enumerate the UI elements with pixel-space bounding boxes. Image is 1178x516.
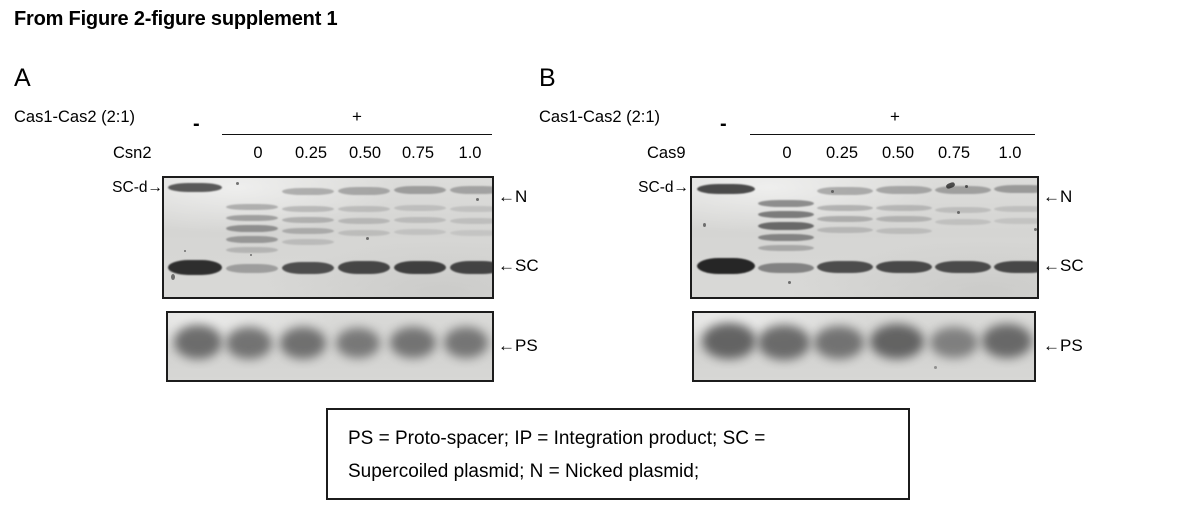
panel-a-plus-sign: + bbox=[352, 108, 362, 125]
panel-b-lane-3 bbox=[817, 178, 873, 297]
panel-b-complex-label: Cas1-Cas2 (2:1) bbox=[539, 108, 660, 127]
panel-a-lane-2 bbox=[226, 178, 278, 297]
panel-a-lane-value-3: 0.75 bbox=[392, 144, 444, 163]
panel-a-ps-gel-image bbox=[166, 311, 494, 382]
legend-box: PS = Proto-spacer; IP = Integration prod… bbox=[326, 408, 910, 500]
panel-a-letter: A bbox=[14, 66, 31, 91]
panel-a-header-rule bbox=[222, 134, 492, 135]
panel-b-plus-sign: + bbox=[890, 108, 900, 125]
panel-a-lane-1 bbox=[168, 178, 222, 297]
panel-a-gel-image bbox=[162, 176, 494, 299]
panel-b-lane-value-3: 0.75 bbox=[926, 144, 982, 163]
panel-b-marker-sc: ←SC bbox=[1043, 257, 1084, 274]
panel-a-lane-value-2: 0.50 bbox=[338, 144, 392, 163]
panel-b-lane-1 bbox=[697, 178, 755, 297]
panel-b-gel-image bbox=[690, 176, 1039, 299]
panel-b-lane-4 bbox=[876, 178, 932, 297]
panel-a-complex-label: Cas1-Cas2 (2:1) bbox=[14, 108, 135, 127]
panel-b-lane-value-0: 0 bbox=[760, 144, 814, 163]
panel-b-lane-2 bbox=[758, 178, 814, 297]
panel-b-lane-5 bbox=[935, 178, 991, 297]
panel-b-marker-ps: ←PS bbox=[1043, 337, 1083, 354]
panel-b-lane-6 bbox=[994, 178, 1039, 297]
panel-a-marker-n: ←N bbox=[498, 188, 527, 205]
panel-b-lane-value-4: 1.0 bbox=[982, 144, 1038, 163]
panel-b-ps-gel-image bbox=[692, 311, 1036, 382]
panel-b-lane-numbers: 0 0.25 0.50 0.75 1.0 bbox=[760, 144, 1038, 163]
panel-b-minus-sign: - bbox=[720, 114, 727, 134]
panel-a-lane-value-0: 0 bbox=[232, 144, 284, 163]
panel-b-marker-n: ←N bbox=[1043, 188, 1072, 205]
panel-a-minus-sign: - bbox=[193, 114, 200, 134]
panel-b-header-rule bbox=[750, 134, 1035, 135]
panel-a-lane-6 bbox=[450, 178, 494, 297]
legend-line-2: Supercoiled plasmid; N = Nicked plasmid; bbox=[348, 455, 908, 488]
panel-a-lane-5 bbox=[394, 178, 446, 297]
panel-b-protein-label: Cas9 bbox=[647, 144, 686, 163]
panel-a-lane-3 bbox=[282, 178, 334, 297]
panel-a-lane-numbers: 0 0.25 0.50 0.75 1.0 bbox=[232, 144, 496, 163]
legend-line-1: PS = Proto-spacer; IP = Integration prod… bbox=[348, 422, 908, 455]
panel-a-lane-value-4: 1.0 bbox=[444, 144, 496, 163]
panel-b-lane-value-1: 0.25 bbox=[814, 144, 870, 163]
panel-a-protein-label: Csn2 bbox=[113, 144, 152, 163]
panel-a-sc-d-marker: SC-d→ bbox=[88, 180, 163, 196]
panel-b-lane-value-2: 0.50 bbox=[870, 144, 926, 163]
panel-a-lane-value-1: 0.25 bbox=[284, 144, 338, 163]
panel-a-lane-4 bbox=[338, 178, 390, 297]
panel-b-sc-d-marker: SC-d→ bbox=[614, 180, 689, 196]
panel-b-letter: B bbox=[539, 66, 556, 91]
